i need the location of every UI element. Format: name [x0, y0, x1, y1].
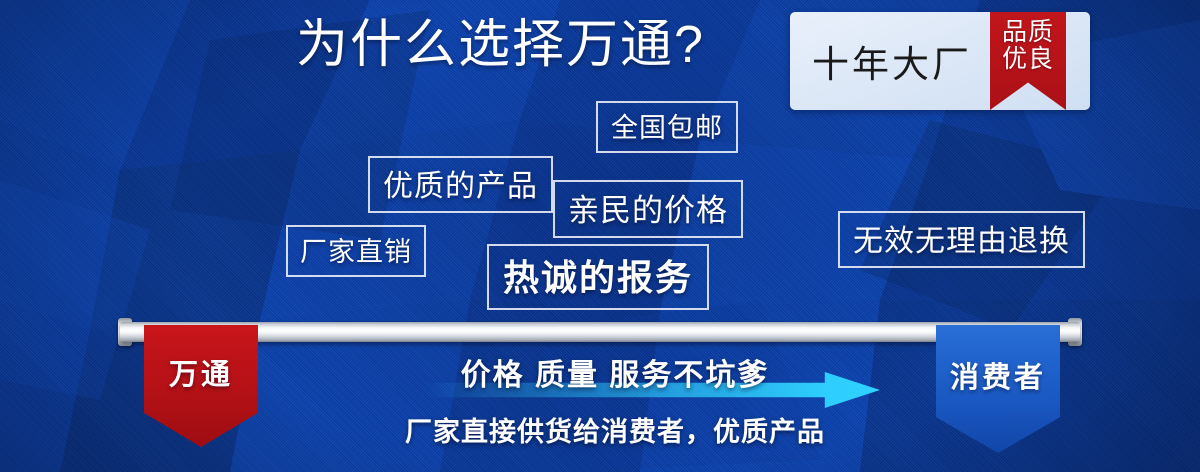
quality-ribbon-line-1: 品质 — [1002, 19, 1054, 46]
page-title: 为什么选择万通? — [296, 16, 705, 74]
flow-subline: 厂家直接供货给消费者，优质产品 — [0, 410, 1200, 449]
quality-ribbon-line-2: 优良 — [1002, 46, 1054, 73]
quality-badge-label: 十年大厂 — [812, 34, 972, 88]
feature-box-factory-direct: 厂家直销 — [286, 225, 426, 277]
quality-ribbon: 品质 优良 — [990, 12, 1066, 110]
feature-box-quality-product: 优质的产品 — [368, 156, 553, 213]
flow-headline: 价格 质量 服务不坑爹 — [0, 350, 1200, 394]
feature-box-sincere-service: 热诚的报务 — [487, 244, 709, 310]
quality-badge: 十年大厂 品质 优良 — [790, 12, 1090, 110]
feature-box-nationwide-shipping: 全国包邮 — [596, 101, 738, 153]
promo-banner: 为什么选择万通? 十年大厂 品质 优良 全国包邮 优质的产品 亲民的价格 厂家直… — [0, 0, 1200, 472]
feature-box-free-return: 无效无理由退换 — [838, 211, 1085, 268]
feature-box-affordable-price: 亲民的价格 — [553, 180, 743, 238]
